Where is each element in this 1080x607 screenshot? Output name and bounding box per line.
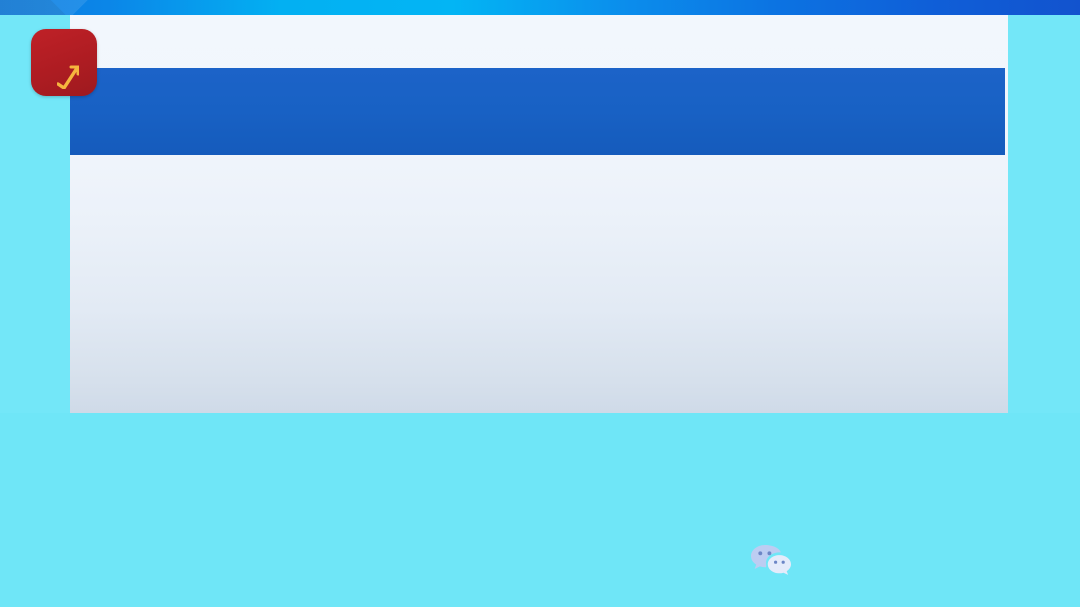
law-title-bar <box>70 68 1005 155</box>
logo-growth-arrow-icon <box>57 65 79 89</box>
wechat-icon <box>750 543 792 577</box>
cctv-finance-logo <box>31 29 97 96</box>
wechat-official-account <box>750 543 803 577</box>
law-body-container <box>88 176 996 408</box>
top-gradient-band <box>0 0 1080 15</box>
broadcast-graphic-frame <box>0 0 1080 607</box>
right-cyan-rail <box>1008 15 1080 413</box>
geometric-tile-mosaic <box>0 413 1080 607</box>
